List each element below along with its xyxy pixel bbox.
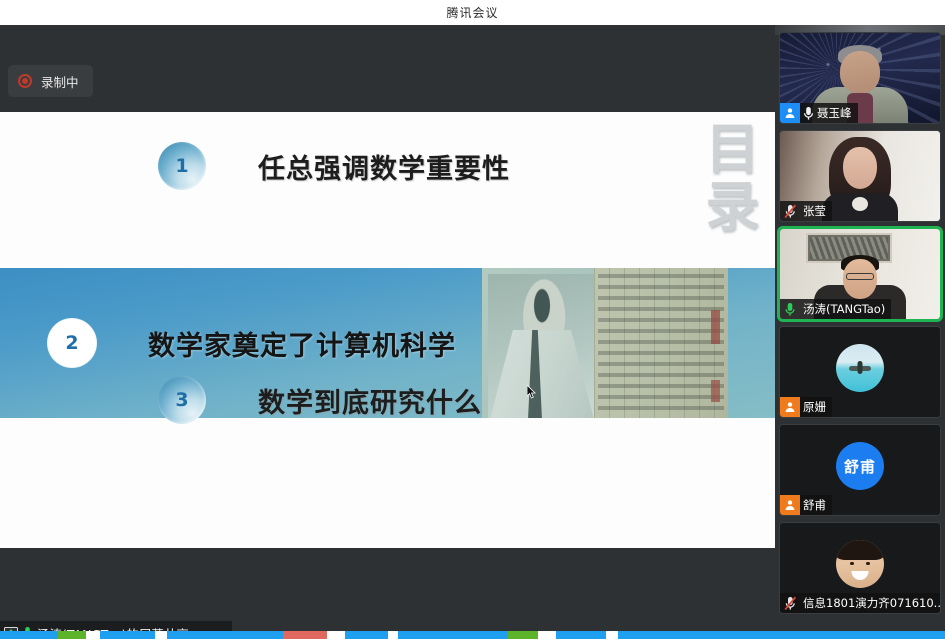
share-owner-label: 汤涛(TANGTao)的屏幕共享 [37, 624, 189, 632]
microphone-on-icon [780, 299, 800, 319]
record-dot-icon [18, 74, 32, 88]
shared-screen-stage: 录制中 目录 1 任总强调数学重要性 2 数学家奠定了计算机科学 3 数学到底研… [0, 25, 775, 631]
participant-3-name: 汤涛(TANGTao) [803, 301, 885, 317]
participant-tile-4[interactable]: 原姗 [780, 327, 940, 417]
recording-label: 录制中 [41, 72, 79, 91]
participant-tile-5[interactable]: 舒甫 舒甫 [780, 425, 940, 515]
taskbar-icon-gap-4 [388, 631, 398, 639]
participant-5-avatar: 舒甫 [836, 442, 884, 490]
taskbar-icon-3[interactable] [508, 631, 538, 639]
participant-1-name: 聂玉峰 [817, 105, 852, 121]
slide-item-3: 3 数学到底研究什么 [0, 364, 775, 436]
slide-item-1-number: 1 [158, 142, 206, 190]
microphone-on-icon [803, 106, 814, 121]
presentation-slide: 目录 1 任总强调数学重要性 2 数学家奠定了计算机科学 3 数学到底研究什么 [0, 112, 775, 548]
window-title-bar: 腾讯会议 [0, 0, 945, 25]
participant-icon [780, 495, 800, 515]
taskbar-icon-gap-2 [155, 631, 167, 639]
slide-item-1-title: 任总强调数学重要性 [258, 147, 510, 186]
slide-item-3-title: 数学到底研究什么 [258, 381, 482, 420]
window-title: 腾讯会议 [446, 4, 498, 21]
slide-item-2-title: 数学家奠定了计算机科学 [148, 324, 456, 363]
taskbar-icon-gap-3 [327, 631, 345, 639]
participant-4-avatar [836, 344, 884, 392]
taskbar-icon-gap-5 [538, 631, 556, 639]
participants-panel[interactable]: 聂玉峰 张莹 [775, 25, 945, 631]
slide-item-3-number: 3 [158, 376, 206, 424]
taskbar-icon-1[interactable] [58, 631, 86, 639]
recording-indicator[interactable]: 录制中 [8, 65, 93, 97]
screen-share-banner: 汤涛(TANGTao)的屏幕共享 [0, 621, 232, 631]
participant-5-nameplate: 舒甫 [780, 495, 832, 515]
participant-icon [780, 103, 800, 123]
participant-3-nameplate: 汤涛(TANGTao) [780, 299, 891, 319]
slide-item-2-number: 2 [48, 319, 96, 367]
participant-4-name: 原姗 [803, 399, 826, 415]
taskbar-icon-2[interactable] [283, 631, 327, 639]
participant-5-name: 舒甫 [803, 497, 826, 513]
participant-2-name: 张莹 [803, 203, 826, 219]
participant-6-avatar [836, 540, 884, 588]
mouse-cursor [527, 385, 536, 399]
participant-tile-2[interactable]: 张莹 [780, 131, 940, 221]
participant-tile-1[interactable]: 聂玉峰 [780, 33, 940, 123]
participant-icon [780, 397, 800, 417]
taskbar-icon-gap-1 [86, 631, 100, 639]
participant-5-avatar-initials: 舒甫 [844, 456, 876, 477]
participant-6-name: 信息1801演力齐071610... [803, 595, 940, 611]
participant-6-nameplate: 信息1801演力齐071610... [780, 593, 940, 613]
microphone-muted-icon [780, 593, 800, 613]
slide-item-1: 1 任总强调数学重要性 [0, 130, 775, 202]
taskbar-icon-gap-6 [606, 631, 618, 639]
microphone-muted-icon [780, 201, 800, 221]
participant-tile-6[interactable]: 信息1801演力齐071610... [780, 523, 940, 613]
participant-tile-3[interactable]: 汤涛(TANGTao) [780, 229, 940, 319]
os-taskbar[interactable] [0, 631, 945, 639]
participant-1-nameplate: 聂玉峰 [780, 103, 858, 123]
participant-4-nameplate: 原姗 [780, 397, 832, 417]
participant-2-nameplate: 张莹 [780, 201, 832, 221]
